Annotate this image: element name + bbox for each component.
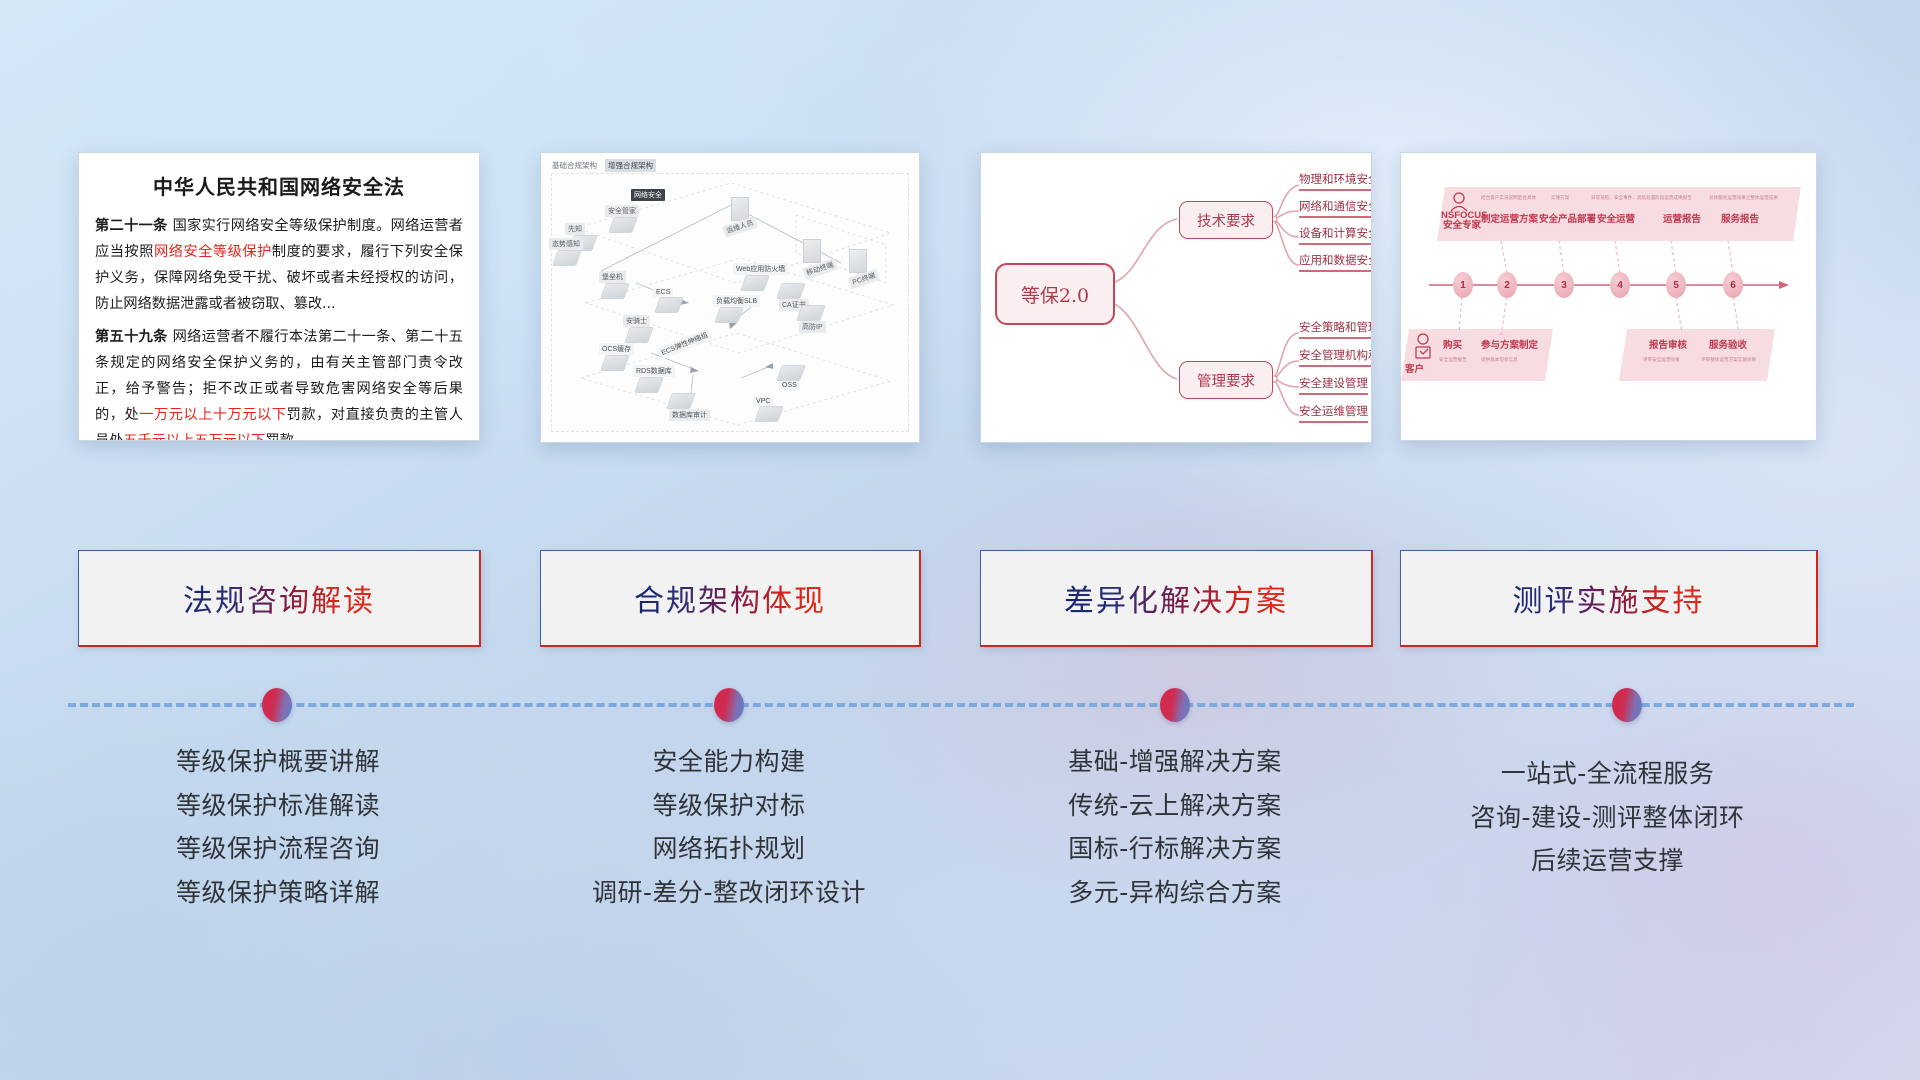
timeline-step-1: 1 (1453, 272, 1473, 298)
bullet-item: 多元-异构综合方案 (980, 871, 1370, 915)
timeline-bottom-sub-4: 评审整体运营方案实施效果 (1701, 357, 1756, 363)
bullet-item: 一站式-全流程服务 (1400, 752, 1815, 796)
mindmap-leaf-network-comm: 网络和通信安全 (1299, 198, 1372, 218)
mindmap: 等保2.0 技术要求 管理要求 物理和环境安全 网络和通信安全 设备和计算安全 … (981, 153, 1371, 442)
mindmap-root: 等保2.0 (995, 263, 1115, 325)
bullet-column-2: 安全能力构建 等级保护对标 网络拓扑规划 调研-差分-整改闭环设计 (540, 740, 918, 914)
mindmap-leaf-policy-system: 安全策略和管理制度 (1299, 319, 1372, 339)
law-article-21: 第二十一条 国家实行网络安全等级保护制度。网络运营者应当按照网络安全等级保护制度… (95, 214, 463, 318)
mindmap-branch-management: 管理要求 (1179, 361, 1273, 399)
heading-label-2: 合规架构体现 (634, 576, 826, 620)
timeline-top-sub-4: 阶段运营成果报告 (1655, 195, 1692, 201)
bullet-column-1: 等级保护概要讲解 等级保护标准解读 等级保护流程咨询 等级保护策略详解 (78, 740, 478, 914)
heading-box-regulation-consulting[interactable]: 法规咨询解读 (78, 550, 481, 647)
timeline-top-sub-3: 日常巡检、安全事件、高危处置 (1591, 195, 1655, 201)
timeline-step-6: 6 (1723, 272, 1743, 298)
bullet-item: 国标-行标解决方案 (980, 827, 1370, 871)
mindmap-leaf-app-data: 应用和数据安全 (1299, 252, 1372, 272)
arch-node-rds-database: RDS数据库 (633, 365, 675, 393)
mindmap-leaf-device-compute: 设备和计算安全 (1299, 225, 1372, 245)
bullet-column-3: 基础-增强解决方案 传统-云上解决方案 国标-行标解决方案 多元-异构综合方案 (980, 740, 1370, 914)
bullet-columns: 等级保护概要讲解 等级保护标准解读 等级保护流程咨询 等级保护策略详解 安全能力… (0, 740, 1920, 960)
law-article-59-highlight-2: 五千元以上五万元以下 (123, 433, 265, 441)
heading-label-4: 测评实施支持 (1513, 576, 1705, 620)
arch-node-vpc: VPC (753, 397, 781, 422)
mindmap-branch-technical: 技术要求 (1179, 201, 1273, 239)
bullet-item: 调研-差分-整改闭环设计 (540, 871, 918, 915)
arch-node-bastion-host: 堡垒机 (599, 271, 627, 299)
arch-node-ocs-cache: OCS缓存 (599, 343, 634, 371)
card-service-timeline: NSFOCUS 安全专家 客户 结合客户实况说明后台具体 制定运营方案 实施方案… (1400, 152, 1817, 441)
timeline-top-sub-5: 总体服务运营效果之整体运营成果 (1709, 195, 1778, 201)
bullet-item: 等级保护概要讲解 (78, 740, 478, 784)
timeline-marker-3[interactable] (1160, 688, 1190, 722)
heading-row: 法规咨询解读 合规架构体现 差异化解决方案 测评实施支持 (0, 550, 1920, 650)
timeline-marker-1[interactable] (262, 688, 292, 722)
arch-node-slb: 负载均衡SLB (713, 295, 760, 323)
law-article-59-label: 第五十九条 (95, 329, 168, 345)
arch-node-ops-staff: 运维人员 (723, 197, 757, 233)
heading-label-3: 差异化解决方案 (1064, 576, 1288, 620)
timeline-top-title-4: 运营报告 (1663, 211, 1701, 225)
timeline-bottom-title-4: 服务验收 (1709, 337, 1747, 351)
card-dengbao-mindmap: 等保2.0 技术要求 管理要求 物理和环境安全 网络和通信安全 设备和计算安全 … (980, 152, 1372, 443)
timeline-top-title-1: 制定运营方案 (1481, 211, 1538, 225)
bullet-item: 网络拓扑规划 (540, 827, 918, 871)
bullet-item: 等级保护策略详解 (78, 871, 478, 915)
timeline-marker-4[interactable] (1612, 688, 1642, 722)
timeline-top-sub-2: 实施方案 (1551, 195, 1569, 201)
timeline-top-title-3: 安全运营 (1597, 211, 1635, 225)
bullet-item: 咨询-建设-测评整体闭环 (1400, 796, 1815, 840)
heading-box-differentiated-solution[interactable]: 差异化解决方案 (980, 550, 1373, 647)
arch-node-situational-awareness: 态势感知 (549, 238, 583, 266)
timeline-top-title-5: 服务报告 (1721, 211, 1759, 225)
timeline-top-sub-1: 结合客户实况说明后台具体 (1481, 195, 1536, 201)
arch-node-oss: OSS (779, 365, 803, 390)
timeline-marker-2[interactable] (714, 688, 744, 722)
timeline-step-5: 5 (1666, 272, 1686, 298)
bullet-item: 等级保护对标 (540, 784, 918, 828)
timeline-bottom-sub-3: 评审安全运营效果 (1643, 357, 1680, 363)
timeline-bottom-sub-2: 提供基本现状信息 (1481, 357, 1518, 363)
timeline-customer-label: 客户 (1405, 361, 1424, 375)
mindmap-leaf-org-personnel: 安全管理机构和人员 (1299, 347, 1372, 367)
bullet-column-4: 一站式-全流程服务 咨询-建设-测评整体闭环 后续运营支撑 (1400, 740, 1815, 883)
heading-box-compliance-architecture[interactable]: 合规架构体现 (540, 550, 921, 647)
bullet-item: 等级保护标准解读 (78, 784, 478, 828)
bullet-item: 基础-增强解决方案 (980, 740, 1370, 784)
slide-root: 中华人民共和国网络安全法 第二十一条 国家实行网络安全等级保护制度。网络运营者应… (0, 0, 1920, 1080)
arch-node-anqishi: 安骑士 (623, 315, 651, 343)
timeline-step-2: 2 (1497, 272, 1517, 298)
timeline-bottom-title-1: 购买 (1443, 337, 1462, 351)
heading-label-1: 法规咨询解读 (183, 576, 375, 620)
timeline-step-3: 3 (1554, 272, 1574, 298)
law-article-21-highlight: 网络安全等级保护 (154, 244, 272, 260)
timeline-bottom-title-3: 报告审核 (1649, 337, 1687, 351)
timeline-expert-label: NSFOCUS 安全专家 (1441, 211, 1483, 231)
arch-node-database-audit: 数据库审计 (669, 393, 710, 421)
timeline-bottom-sub-1: 安全运营报告 (1439, 357, 1467, 363)
architecture-diagram: 基础合规架构 增强合规架构 (541, 153, 919, 442)
card-row: 中华人民共和国网络安全法 第二十一条 国家实行网络安全等级保护制度。网络运营者应… (0, 152, 1920, 452)
law-title: 中华人民共和国网络安全法 (95, 171, 463, 200)
arch-node-pc-terminal: PC终端 (849, 249, 879, 285)
arch-node-ecs: ECS (653, 288, 681, 313)
bullet-item: 后续运营支撑 (1400, 839, 1815, 883)
bullet-item: 等级保护流程咨询 (78, 827, 478, 871)
law-article-21-label: 第二十一条 (95, 218, 168, 234)
arch-node-anti-ddos-ip: 高防IP (799, 305, 826, 333)
law-article-59-text-c: 罚款。 (265, 433, 308, 441)
card-compliance-architecture: 基础合规架构 增强合规架构 (540, 152, 920, 443)
service-timeline: NSFOCUS 安全专家 客户 结合客户实况说明后台具体 制定运营方案 实施方案… (1401, 153, 1816, 440)
mindmap-leaf-physical-env: 物理和环境安全 (1299, 171, 1372, 191)
process-timeline (0, 670, 1920, 740)
law-article-59: 第五十九条 网络运营者不履行本法第二十一条、第二十五条规定的网络安全保护义务的，… (95, 325, 463, 441)
arch-node-network-security: 网络安全 (631, 189, 665, 201)
law-card-body: 中华人民共和国网络安全法 第二十一条 国家实行网络安全等级保护制度。网络运营者应… (79, 153, 479, 440)
timeline-top-title-2: 安全产品部署 (1539, 211, 1596, 225)
timeline-step-4: 4 (1610, 272, 1630, 298)
mindmap-leaf-ops-mgmt: 安全运维管理 (1299, 403, 1368, 423)
mindmap-leaf-construction-mgmt: 安全建设管理 (1299, 375, 1368, 395)
arch-node-mobile-terminal: 移动终端 (803, 239, 837, 275)
card-cybersecurity-law: 中华人民共和国网络安全法 第二十一条 国家实行网络安全等级保护制度。网络运营者应… (78, 152, 480, 441)
arch-node-security-butler: 安全管家 (605, 205, 639, 233)
bullet-item: 安全能力构建 (540, 740, 918, 784)
timeline-bottom-title-2: 参与方案制定 (1481, 337, 1538, 351)
bullet-item: 传统-云上解决方案 (980, 784, 1370, 828)
law-article-59-highlight-1: 一万元以上十万元以下 (139, 407, 286, 423)
heading-box-assessment-support[interactable]: 测评实施支持 (1400, 550, 1818, 647)
timeline-dashed-line (68, 703, 1854, 707)
